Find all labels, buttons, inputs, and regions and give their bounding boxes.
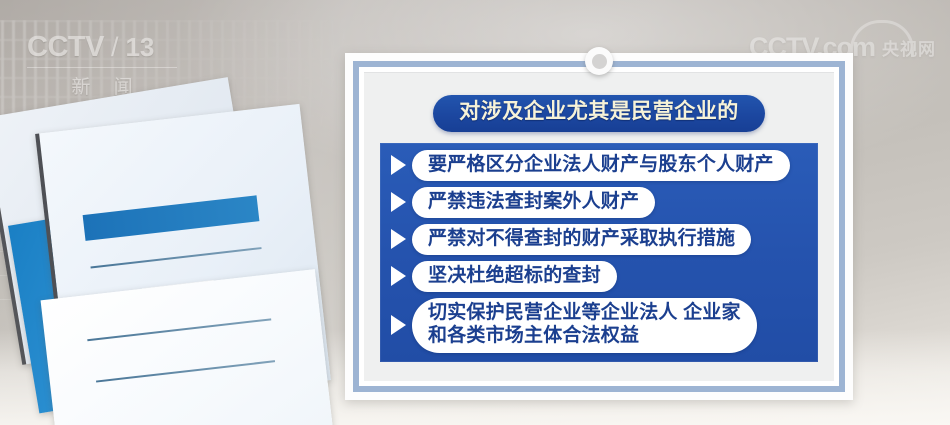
bullet-list-box: 要严格区分企业法人财产与股东个人财产 严禁违法查封案外人财产 严禁对不得查封的财…	[380, 143, 818, 363]
list-item: 严禁对不得查封的财产采取执行措施	[386, 224, 812, 255]
triangle-arrow-icon	[391, 192, 406, 212]
panel-title-row: 对涉及企业尤其是民营企业的	[380, 95, 818, 132]
list-item-label: 严禁对不得查封的财产采取执行措施	[428, 227, 735, 251]
triangle-arrow-icon	[391, 266, 406, 286]
panel-border-frame: 对涉及企业尤其是民营企业的 要严格区分企业法人财产与股东个人财产 严禁违法查封案…	[353, 61, 845, 392]
list-item: 严禁违法查封案外人财产	[386, 187, 812, 218]
list-item-pill: 严禁对不得查封的财产采取执行措施	[412, 224, 751, 255]
panel-content-area: 对涉及企业尤其是民营企业的 要严格区分企业法人财产与股东个人财产 严禁违法查封案…	[364, 72, 834, 381]
document-text-line	[96, 360, 275, 382]
logo-top-row: CCTV / 13	[27, 30, 207, 64]
document-text-line	[87, 318, 271, 341]
triangle-arrow-icon	[391, 229, 406, 249]
panel-pin-icon	[585, 47, 613, 75]
list-item-label: 坚决杜绝超标的查封	[428, 264, 601, 288]
triangle-arrow-icon	[391, 155, 406, 175]
document-illustration	[0, 86, 354, 425]
panel-title-pill: 对涉及企业尤其是民营企业的	[433, 95, 765, 132]
document-header-bar	[83, 195, 260, 241]
list-item: 切实保护民营企业等企业法人 企业家 和各类市场主体合法权益	[386, 298, 812, 354]
document-text-line	[90, 247, 261, 268]
list-item-pill: 严禁违法查封案外人财产	[412, 187, 655, 218]
broadcast-screen: CCTV / 13 新 闻 CCTV.com 央视网	[0, 0, 950, 425]
cctv-wordmark: CCTV	[27, 33, 104, 62]
list-item-pill: 坚决杜绝超标的查封	[412, 261, 617, 292]
list-item-label: 切实保护民营企业等企业法人 企业家 和各类市场主体合法权益	[428, 301, 741, 349]
logo-slash-icon: /	[111, 34, 119, 61]
cctv-channel-logo: CCTV / 13 新 闻	[27, 30, 207, 92]
list-item-label: 严禁违法查封案外人财产	[428, 190, 639, 214]
list-item: 要严格区分企业法人财产与股东个人财产	[386, 150, 812, 181]
list-item: 坚决杜绝超标的查封	[386, 261, 812, 292]
list-item-pill: 要严格区分企业法人财产与股东个人财产	[412, 150, 790, 181]
channel-number: 13	[125, 34, 154, 60]
panel-pin-core	[592, 54, 607, 69]
triangle-arrow-icon	[391, 315, 406, 335]
panel-title-text: 对涉及企业尤其是民营企业的	[459, 100, 739, 125]
list-item-label: 要严格区分企业法人财产与股东个人财产	[428, 153, 774, 177]
logo-divider-rule	[27, 67, 177, 68]
info-panel: 对涉及企业尤其是民营企业的 要严格区分企业法人财产与股东个人财产 严禁违法查封案…	[345, 53, 853, 400]
list-item-pill: 切实保护民营企业等企业法人 企业家 和各类市场主体合法权益	[412, 298, 757, 354]
